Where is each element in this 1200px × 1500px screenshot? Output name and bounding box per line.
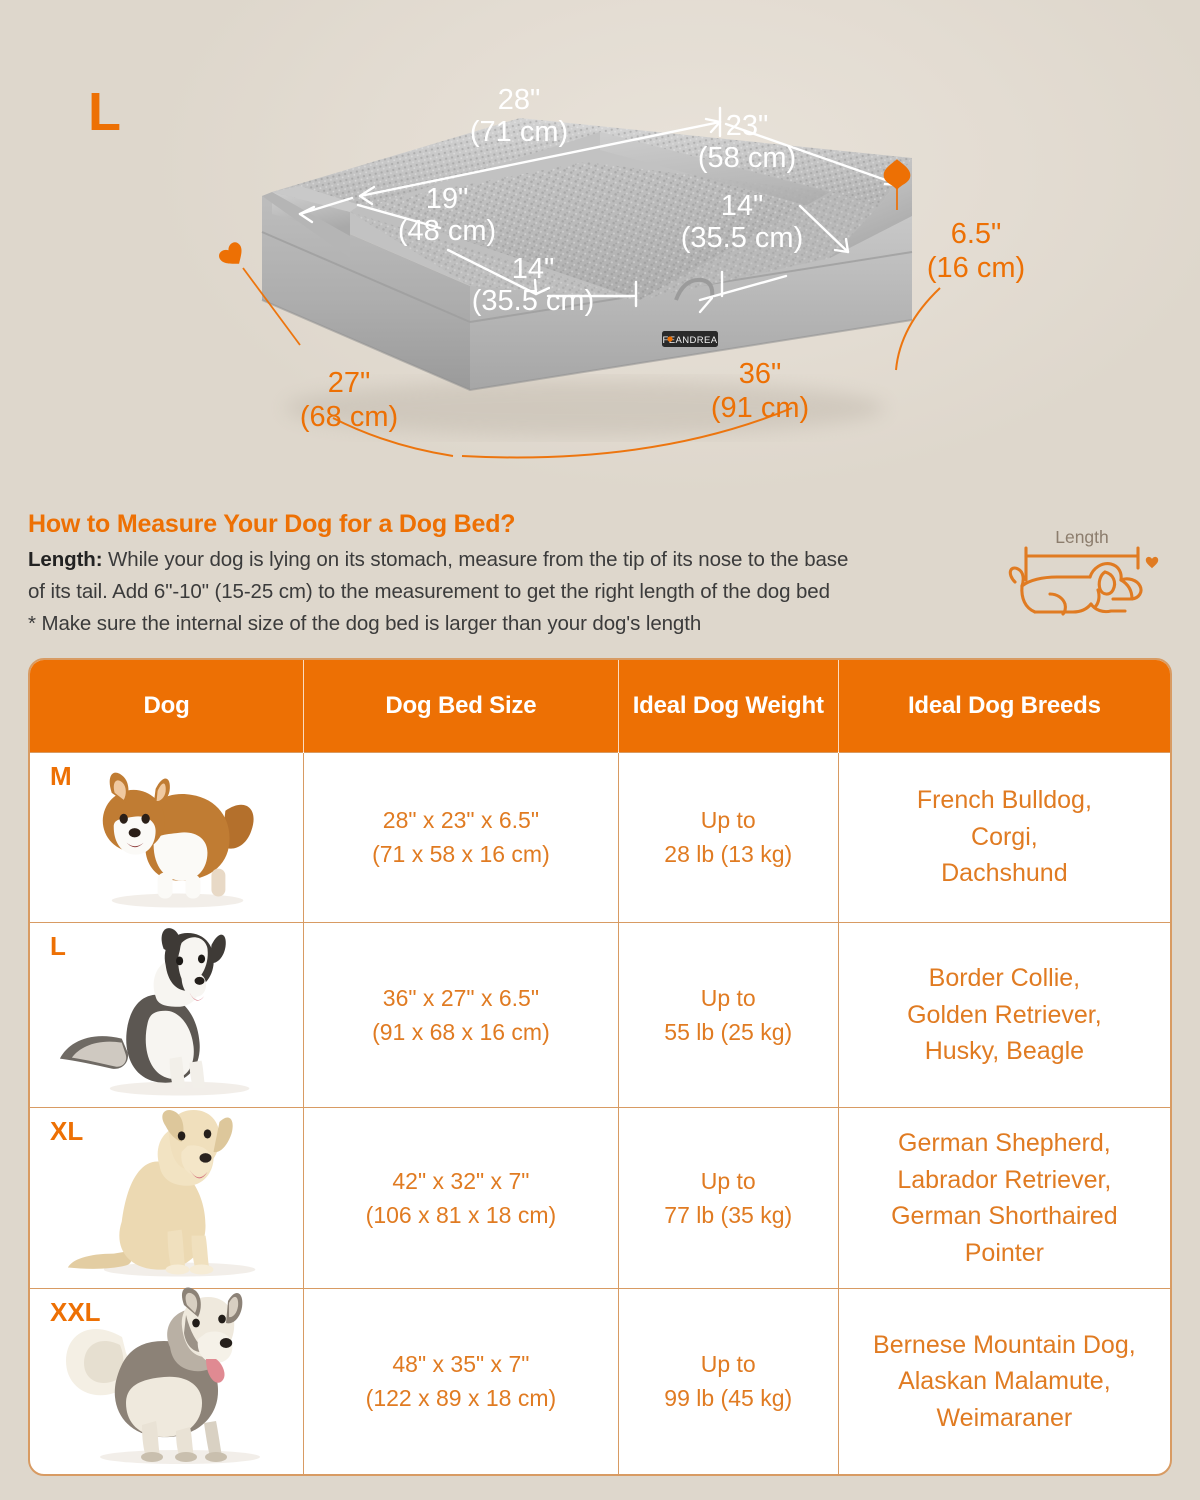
dim-height-cm: (16 cm)	[927, 252, 1025, 284]
weight-cell-xxl: Up to 99 lb (45 kg)	[618, 1288, 838, 1474]
table-header-row: Dog Dog Bed Size Ideal Dog Weight Ideal …	[30, 660, 1170, 752]
weight-cell-m: Up to 28 lb (13 kg)	[618, 752, 838, 922]
bed-size-cell-xxl: 48" x 35" x 7" (122 x 89 x 18 cm)	[304, 1288, 619, 1474]
table-row: M	[30, 752, 1170, 922]
border-collie-photo	[30, 919, 289, 1104]
weight-line-1: Up to	[627, 1347, 830, 1381]
malamute-photo	[30, 1285, 290, 1470]
breeds-cell-xxl: Bernese Mountain Dog, Alaskan Malamute, …	[838, 1288, 1170, 1474]
dog-cell-m: M	[30, 752, 304, 922]
dim-inner-right-in: 14"	[721, 190, 764, 222]
measure-length-label: Length:	[28, 548, 102, 571]
dim-top-depth-cm: (58 cm)	[698, 142, 796, 174]
dim-overall-width-in: 36"	[739, 358, 782, 390]
dog-cell-xxl: XXL	[30, 1288, 304, 1474]
breed-line: Corgi,	[847, 819, 1162, 856]
breed-line: Labrador Retriever,	[847, 1162, 1162, 1199]
table-body: M	[30, 752, 1170, 1474]
weight-line-1: Up to	[627, 803, 830, 837]
dim-height-in: 6.5"	[951, 218, 1002, 250]
bed-size-in: 42" x 32" x 7"	[312, 1164, 610, 1198]
bed-size-cm: (122 x 89 x 18 cm)	[312, 1381, 610, 1415]
measure-line-1-rest: While your dog is lying on its stomach, …	[102, 548, 848, 571]
breed-line: French Bulldog,	[847, 782, 1162, 819]
table-row: L	[30, 922, 1170, 1108]
measure-line-3: * Make sure the internal size of the dog…	[28, 612, 701, 636]
measure-line-2: of its tail. Add 6"-10" (15-25 cm) to th…	[28, 580, 830, 604]
bed-size-cm: (106 x 81 x 18 cm)	[312, 1198, 610, 1232]
bed-size-in: 36" x 27" x 6.5"	[312, 981, 610, 1015]
bed-size-cm: (91 x 68 x 16 cm)	[312, 1015, 610, 1049]
table-row: XXL	[30, 1288, 1170, 1474]
dim-overall-depth-in: 27"	[328, 367, 371, 399]
heart-icon	[1146, 557, 1158, 568]
dim-inner-front-cm: (35.5 cm)	[472, 285, 594, 317]
breed-line: Border Collie,	[847, 960, 1162, 997]
weight-line-2: 77 lb (35 kg)	[627, 1198, 830, 1232]
weight-line-1: Up to	[627, 981, 830, 1015]
corgi-photo	[30, 749, 289, 918]
dog-size-table: Dog Dog Bed Size Ideal Dog Weight Ideal …	[28, 658, 1172, 1476]
weight-cell-xl: Up to 77 lb (35 kg)	[618, 1108, 838, 1289]
weight-line-2: 55 lb (25 kg)	[627, 1015, 830, 1049]
dim-top-width-cm: (71 cm)	[470, 116, 568, 148]
breed-line: Bernese Mountain Dog,	[847, 1327, 1162, 1364]
breeds-cell-m: French Bulldog, Corgi, Dachshund	[838, 752, 1170, 922]
column-header-weight: Ideal Dog Weight	[618, 660, 838, 752]
dim-inner-left-in: 19"	[426, 183, 469, 215]
breed-line: Golden Retriever,	[847, 997, 1162, 1034]
weight-line-2: 99 lb (45 kg)	[627, 1381, 830, 1415]
bed-size-cell-xl: 42" x 32" x 7" (106 x 81 x 18 cm)	[304, 1108, 619, 1289]
table-row: XL	[30, 1108, 1170, 1289]
labrador-photo	[30, 1104, 289, 1284]
dim-inner-left-cm: (48 cm)	[398, 215, 496, 247]
diagram-length-label: Length	[1055, 527, 1109, 547]
dim-inner-right-cm: (35.5 cm)	[681, 222, 803, 254]
breed-line: German Shorthaired	[847, 1198, 1162, 1235]
dim-top-width-in: 28"	[498, 84, 541, 116]
breed-line: Pointer	[847, 1235, 1162, 1272]
hero-product-section: L	[0, 0, 1200, 495]
breeds-cell-xl: German Shepherd, Labrador Retriever, Ger…	[838, 1108, 1170, 1289]
dog-bed-illustration: FEANDREA	[0, 0, 1200, 495]
dim-top-depth-in: 23"	[726, 110, 769, 142]
breeds-cell-l: Border Collie, Golden Retriever, Husky, …	[838, 922, 1170, 1108]
weight-cell-l: Up to 55 lb (25 kg)	[618, 922, 838, 1108]
dog-cell-l: L	[30, 922, 304, 1108]
dog-cell-xl: XL	[30, 1108, 304, 1289]
dim-inner-front-in: 14"	[512, 253, 555, 285]
column-header-breeds: Ideal Dog Breeds	[838, 660, 1170, 752]
dim-overall-depth-cm: (68 cm)	[300, 401, 398, 433]
measure-title: How to Measure Your Dog for a Dog Bed?	[28, 510, 515, 539]
column-header-dog: Dog	[30, 660, 304, 752]
bed-size-cell-l: 36" x 27" x 6.5" (91 x 68 x 16 cm)	[304, 922, 619, 1108]
bed-size-in: 28" x 23" x 6.5"	[312, 803, 610, 837]
bed-size-in: 48" x 35" x 7"	[312, 1347, 610, 1381]
measure-line-1: Length: While your dog is lying on its s…	[28, 548, 848, 572]
dim-overall-width-cm: (91 cm)	[711, 392, 809, 424]
breed-line: German Shepherd,	[847, 1125, 1162, 1162]
dog-length-diagram: Length	[995, 524, 1180, 636]
bed-size-cm: (71 x 58 x 16 cm)	[312, 837, 610, 871]
column-header-bed-size: Dog Bed Size	[304, 660, 619, 752]
breed-line: Husky, Beagle	[847, 1033, 1162, 1070]
brand-logo: FEANDREA	[662, 331, 718, 347]
heart-marker-left	[217, 240, 249, 271]
weight-line-1: Up to	[627, 1164, 830, 1198]
bed-size-cell-m: 28" x 23" x 6.5" (71 x 58 x 16 cm)	[304, 752, 619, 922]
breed-line: Weimaraner	[847, 1400, 1162, 1437]
breed-line: Alaskan Malamute,	[847, 1363, 1162, 1400]
breed-line: Dachshund	[847, 855, 1162, 892]
weight-line-2: 28 lb (13 kg)	[627, 837, 830, 871]
